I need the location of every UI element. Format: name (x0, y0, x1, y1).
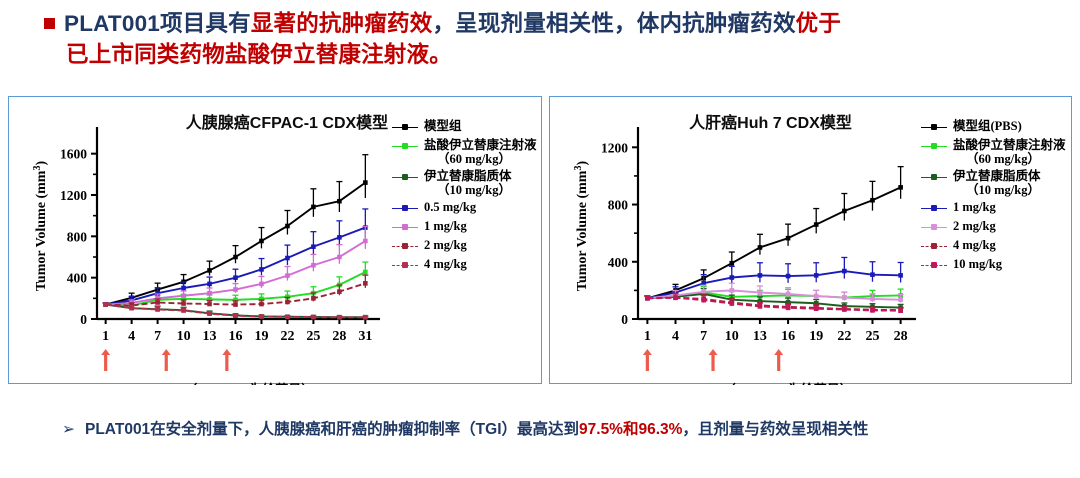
legend-marker-icon (921, 171, 947, 185)
arrow-bullet-icon: ➢ (62, 421, 75, 438)
legend-marker-icon (392, 121, 418, 135)
x-tick-label: 4 (128, 329, 135, 344)
note-text-b: ，且剂量与药效呈现相关性 (682, 421, 868, 438)
x-tick-label: 22 (837, 329, 851, 344)
legend-label: 10 mg/kg (953, 257, 1002, 271)
y-tick-label: 1200 (60, 188, 87, 203)
svg-text:Tumor Volume (mm3): Tumor Volume (mm3) (573, 161, 590, 292)
x-tick-label: 25 (306, 329, 320, 344)
legend-marker-icon (921, 202, 947, 216)
note-highlight: 97.5%和96.3% (579, 421, 682, 438)
legend-label: 0.5 mg/kg (424, 200, 476, 214)
x-tick-label: 7 (700, 329, 707, 344)
legend-sublabel: （60 mg/kg） (424, 152, 537, 166)
legend-label: 模型组(PBS) (953, 119, 1022, 133)
legend-marker-icon (921, 240, 947, 254)
legend-label: 伊立替康脂质体（10 mg/kg） (953, 169, 1041, 197)
y-tick-label: 400 (608, 255, 629, 270)
legend-item[interactable]: 10 mg/kg (921, 257, 1066, 273)
legend-label: 1 mg/kg (953, 200, 996, 214)
legend-item[interactable]: 模型组(PBS) (921, 119, 1066, 135)
chart-legend-left: 模型组盐酸伊立替康注射液（60 mg/kg）伊立替康脂质体（10 mg/kg）0… (392, 119, 537, 276)
dose-arrow-icon (162, 349, 171, 371)
dose-arrow-icon (222, 349, 231, 371)
legend-label: 伊立替康脂质体（10 mg/kg） (424, 169, 512, 197)
legend-label: 4 mg/kg (953, 238, 996, 252)
x-tick-label: 16 (781, 329, 795, 344)
legend-marker-icon (392, 240, 418, 254)
legend-marker-icon (392, 259, 418, 273)
chart-panel-left: 人胰腺癌CFPAC-1 CDX模型 0400800120016001471013… (8, 96, 542, 384)
legend-marker-icon (392, 140, 418, 154)
dose-arrow-icon (774, 349, 783, 371)
title-line-2: 已上市同类药物盐酸伊立替康注射液。 (66, 39, 1054, 70)
legend-label: 盐酸伊立替康注射液（60 mg/kg） (424, 138, 537, 166)
x-tick-label: 4 (672, 329, 679, 344)
y-tick-label: 0 (621, 312, 628, 327)
dose-arrow-icon (101, 349, 110, 371)
legend-sublabel: （60 mg/kg） (953, 152, 1066, 166)
legend-item[interactable]: 4 mg/kg (392, 257, 537, 273)
x-tick-label: 1 (644, 329, 651, 344)
legend-item[interactable]: 0.5 mg/kg (392, 200, 537, 216)
legend-label: 模型组 (424, 119, 462, 133)
x-tick-label: 10 (177, 329, 191, 344)
legend-marker-icon (921, 140, 947, 154)
x-tick-label: 19 (254, 329, 268, 344)
dose-arrow-icon (709, 349, 718, 371)
y-tick-label: 1600 (60, 147, 87, 162)
legend-item[interactable]: 伊立替康脂质体（10 mg/kg） (392, 169, 537, 197)
y-tick-label: 800 (67, 229, 88, 244)
note-text-a: PLAT001在安全剂量下，人胰腺癌和肝癌的肿瘤抑制率（TGI）最高达到 (85, 421, 579, 438)
x-tick-label: 25 (865, 329, 879, 344)
x-tick-label: 13 (203, 329, 217, 344)
x-tick-label: 1 (102, 329, 109, 344)
legend-item[interactable]: 1 mg/kg (921, 200, 1066, 216)
legend-marker-icon (392, 202, 418, 216)
x-tick-label: 28 (894, 329, 908, 344)
legend-label: 1 mg/kg (424, 219, 467, 233)
legend-marker-icon (392, 221, 418, 235)
legend-item[interactable]: 1 mg/kg (392, 219, 537, 235)
legend-marker-icon (392, 171, 418, 185)
title-segment-2: 显著的抗肿瘤药效 (251, 11, 433, 36)
legend-sublabel: （10 mg/kg） (953, 183, 1041, 197)
x-tick-label: 19 (809, 329, 823, 344)
x-tick-label: 31 (358, 329, 372, 344)
x-tick-label: 10 (725, 329, 739, 344)
legend-item[interactable]: 4 mg/kg (921, 238, 1066, 254)
legend-marker-icon (921, 221, 947, 235)
title-segment-4: 优于 (796, 11, 841, 36)
legend-item[interactable]: 2 mg/kg (392, 238, 537, 254)
y-tick-label: 400 (67, 271, 88, 286)
title-segment-1: PLAT001项目具有 (64, 11, 251, 36)
legend-item[interactable]: 伊立替康脂质体（10 mg/kg） (921, 169, 1066, 197)
legend-label: 4 mg/kg (424, 257, 467, 271)
chart-legend-right: 模型组(PBS)盐酸伊立替康注射液（60 mg/kg）伊立替康脂质体（10 mg… (921, 119, 1066, 276)
x-tick-label: 7 (154, 329, 161, 344)
y-tick-label: 1200 (601, 140, 628, 155)
bullet-square-icon (44, 18, 55, 29)
legend-item[interactable]: 盐酸伊立替康注射液（60 mg/kg） (392, 138, 537, 166)
x-axis-label: Days（1，8，15为给药日） (695, 382, 852, 385)
chart-panel-right: 人肝癌Huh 7 CDX模型 0400800120014710131619222… (549, 96, 1072, 384)
legend-marker-icon (921, 121, 947, 135)
x-tick-label: 16 (229, 329, 243, 344)
x-tick-label: 22 (280, 329, 294, 344)
legend-label: 2 mg/kg (953, 219, 996, 233)
y-tick-label: 800 (608, 198, 629, 213)
y-axis-label: Tumor Volume (mm3) (573, 161, 590, 292)
slide-title: PLAT001项目具有显著的抗肿瘤药效，呈现剂量相关性，体内抗肿瘤药效优于 已上… (44, 8, 1054, 70)
svg-text:Tumor Volume (mm3): Tumor Volume (mm3) (32, 161, 49, 292)
legend-label: 盐酸伊立替康注射液（60 mg/kg） (953, 138, 1066, 166)
legend-item[interactable]: 盐酸伊立替康注射液（60 mg/kg） (921, 138, 1066, 166)
x-tick-label: 13 (753, 329, 767, 344)
legend-label: 2 mg/kg (424, 238, 467, 252)
summary-note: ➢PLAT001在安全剂量下，人胰腺癌和肝癌的肿瘤抑制率（TGI）最高达到97.… (62, 419, 1052, 441)
legend-item[interactable]: 2 mg/kg (921, 219, 1066, 235)
dose-arrow-icon (643, 349, 652, 371)
series-模型组(PBS) (644, 167, 903, 301)
x-axis-label: Days（1，8，15为给药日） (157, 382, 314, 385)
legend-item[interactable]: 模型组 (392, 119, 537, 135)
title-segment-3: ，呈现剂量相关性，体内抗肿瘤药效 (432, 11, 795, 36)
x-tick-label: 28 (332, 329, 346, 344)
legend-marker-icon (921, 259, 947, 273)
legend-sublabel: （10 mg/kg） (424, 183, 512, 197)
y-tick-label: 0 (80, 312, 87, 327)
y-axis-label: Tumor Volume (mm3) (32, 161, 49, 292)
